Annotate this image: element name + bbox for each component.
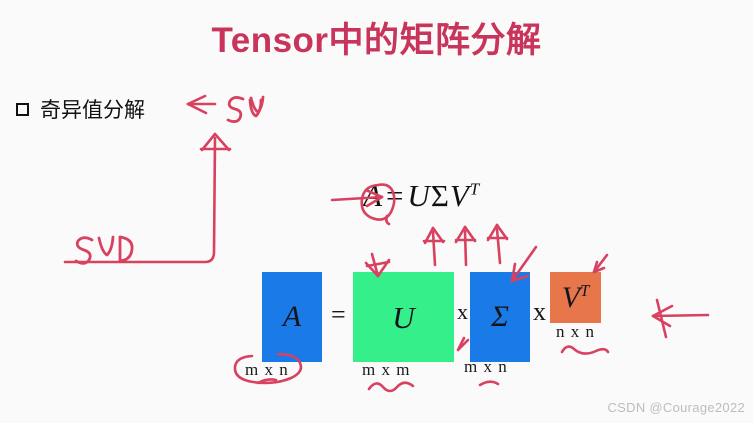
equation-v-exponent: T: [470, 180, 480, 199]
ink-connector-line: [65, 134, 230, 262]
page-title: Tensor中的矩阵分解: [0, 12, 753, 63]
matrix-block-sigma-label: Σ: [491, 302, 509, 332]
bullet-item-label: 奇异值分解: [40, 94, 145, 124]
slide-canvas: Tensor中的矩阵分解 奇异值分解 A=UΣVT A m x n U m x …: [0, 0, 753, 423]
matrix-block-u-dim: m x m: [362, 360, 410, 380]
matrix-block-a-dim: m x n: [245, 360, 289, 380]
matrix-block-vt-label: VT: [562, 283, 590, 313]
diagram-operator-times-1: x: [457, 299, 468, 325]
matrix-block-sigma: Σ: [470, 272, 530, 362]
ink-arrow-to-bullet: [188, 96, 215, 113]
ink-squiggle-nxn: [562, 347, 608, 354]
equation-lhs: A: [363, 178, 383, 213]
equation-sigma: Σ: [431, 178, 450, 213]
square-bullet-icon: [16, 103, 29, 116]
matrix-block-u: U: [353, 272, 454, 362]
matrix-block-vt-dim: n x n: [556, 322, 595, 342]
ink-arrow-into-vt-block: [594, 255, 607, 272]
matrix-block-a-label: A: [283, 302, 301, 332]
ink-squiggle-mxm: [369, 383, 413, 391]
matrix-block-vt: VT: [550, 272, 601, 323]
diagram-operator-times-2: x: [533, 297, 546, 327]
matrix-block-u-label: U: [392, 302, 414, 333]
svd-equation: A=UΣVT: [363, 178, 480, 214]
equation-v: V: [450, 178, 470, 213]
ink-arrow-right-side: [653, 300, 708, 337]
ink-arrow-up-v: [488, 225, 507, 263]
matrix-block-vt-exponent: T: [580, 281, 589, 300]
diagram-operator-equals: =: [331, 300, 346, 330]
ink-arrow-up-u: [424, 228, 444, 265]
csdn-watermark: CSDN @Courage2022: [607, 400, 745, 415]
ink-text-svd-top: [228, 97, 263, 122]
matrix-block-a: A: [262, 272, 322, 362]
matrix-block-vt-letter: V: [562, 281, 580, 314]
bullet-item-svd: 奇异值分解: [16, 94, 145, 124]
equation-equals: =: [383, 178, 407, 213]
ink-arrow-up-sigma: [456, 227, 475, 265]
matrix-block-sigma-dim: m x n: [464, 357, 508, 377]
ink-text-svd-left: [76, 237, 132, 263]
equation-u: U: [407, 178, 430, 213]
